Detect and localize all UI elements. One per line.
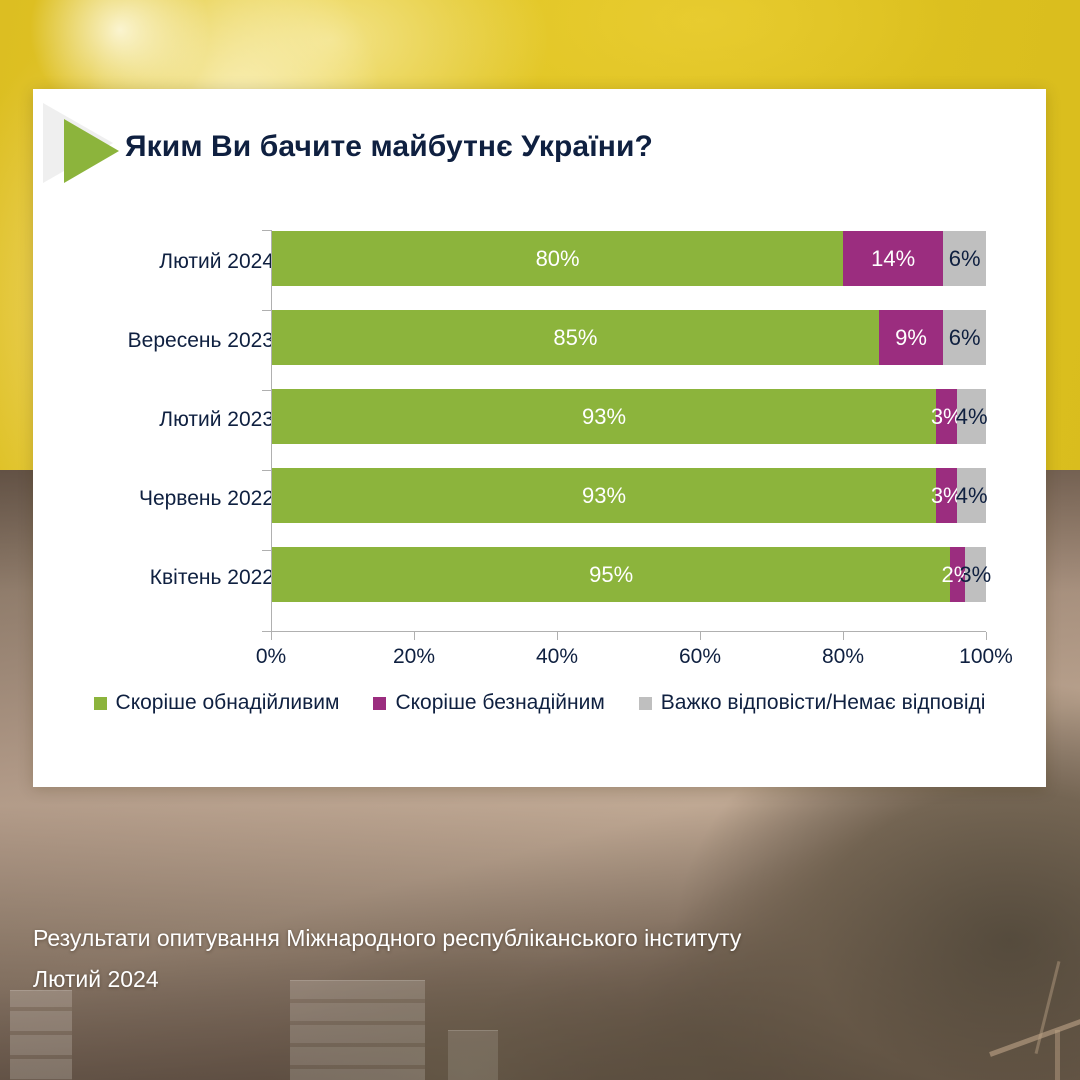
category-label-0: Лютий 2024 [14, 251, 274, 272]
table-row: 85% 9% 6% [272, 310, 986, 365]
legend-item-noanswer[interactable]: Важко відповісти/Немає відповіді [639, 691, 986, 715]
legend-swatch-icon [373, 697, 386, 710]
bar-segment-hopeless: 3% [936, 389, 957, 444]
x-axis-tick [414, 632, 415, 640]
y-axis-tick [262, 310, 271, 311]
legend-swatch-icon [94, 697, 107, 710]
bar-segment-hopeful: 93% [272, 389, 936, 444]
bar-segment-noanswer: 6% [943, 231, 986, 286]
bar-segment-hopeful: 85% [272, 310, 879, 365]
source-line-2: Лютий 2024 [33, 959, 741, 1000]
chart-card: Яким Ви бачите майбутнє України? Лютий 2… [33, 89, 1046, 787]
chart-legend: Скоріше обнадійливим Скоріше безнадійним… [33, 691, 1046, 715]
building-silhouette [448, 1030, 498, 1080]
category-label-1: Вересень 2023 [14, 330, 274, 351]
category-label-4: Квітень 2022 [14, 567, 274, 588]
x-axis-label-3: 60% [650, 645, 750, 669]
bar-segment-hopeful: 95% [272, 547, 950, 602]
bar-segment-hopeless: 9% [879, 310, 943, 365]
x-axis-label-1: 20% [364, 645, 464, 669]
play-triangle-icon [64, 119, 119, 183]
bar-segment-hopeful: 93% [272, 468, 936, 523]
table-row: 93% 3% 4% [272, 389, 986, 444]
card-header: Яким Ви бачите майбутнє України? [33, 89, 1046, 211]
category-label-2: Лютий 2023 [14, 409, 274, 430]
legend-item-hopeful[interactable]: Скоріше обнадійливим [94, 691, 340, 715]
table-row: 93% 3% 4% [272, 468, 986, 523]
bar-segment-hopeless: 14% [843, 231, 943, 286]
x-axis-tick [843, 632, 844, 640]
x-axis-tick [557, 632, 558, 640]
bar-segment-noanswer: 4% [957, 389, 986, 444]
x-axis-tick [986, 632, 987, 640]
table-row: 80% 14% 6% [272, 231, 986, 286]
x-axis-label-4: 80% [793, 645, 893, 669]
legend-label: Важко відповісти/Немає відповіді [661, 691, 986, 715]
bar-segment-hopeful: 80% [272, 231, 843, 286]
bar-segment-noanswer: 6% [943, 310, 986, 365]
page-title: Яким Ви бачите майбутнє України? [125, 130, 653, 164]
construction-crane-icon [1055, 1030, 1060, 1080]
category-label-3: Червень 2022 [14, 488, 274, 509]
bar-segment-hopeless: 3% [936, 468, 957, 523]
bar-segment-noanswer: 4% [957, 468, 986, 523]
x-axis-label-0: 0% [221, 645, 321, 669]
source-line-1: Результати опитування Міжнародного респу… [33, 918, 741, 959]
x-axis-line [271, 631, 986, 632]
stacked-bar-chart: Лютий 2024 Вересень 2023 Лютий 2023 Черв… [33, 211, 1046, 787]
legend-label: Скоріше обнадійливим [116, 691, 340, 715]
y-axis-tick [262, 230, 271, 231]
y-axis-tick [262, 390, 271, 391]
y-axis-tick [262, 631, 271, 632]
x-axis-label-2: 40% [507, 645, 607, 669]
x-axis-label-5: 100% [936, 645, 1036, 669]
legend-item-hopeless[interactable]: Скоріше безнадійним [373, 691, 604, 715]
y-axis-tick [262, 550, 271, 551]
x-axis-tick [271, 632, 272, 640]
bar-segment-noanswer: 3% [965, 547, 986, 602]
building-silhouette [10, 990, 72, 1080]
table-row: 95% 2% 3% [272, 547, 986, 602]
legend-label: Скоріше безнадійним [395, 691, 604, 715]
y-axis-tick [262, 470, 271, 471]
legend-swatch-icon [639, 697, 652, 710]
source-caption: Результати опитування Міжнародного респу… [33, 918, 741, 1000]
slide-canvas: Яким Ви бачите майбутнє України? Лютий 2… [0, 0, 1080, 1080]
x-axis-tick [700, 632, 701, 640]
